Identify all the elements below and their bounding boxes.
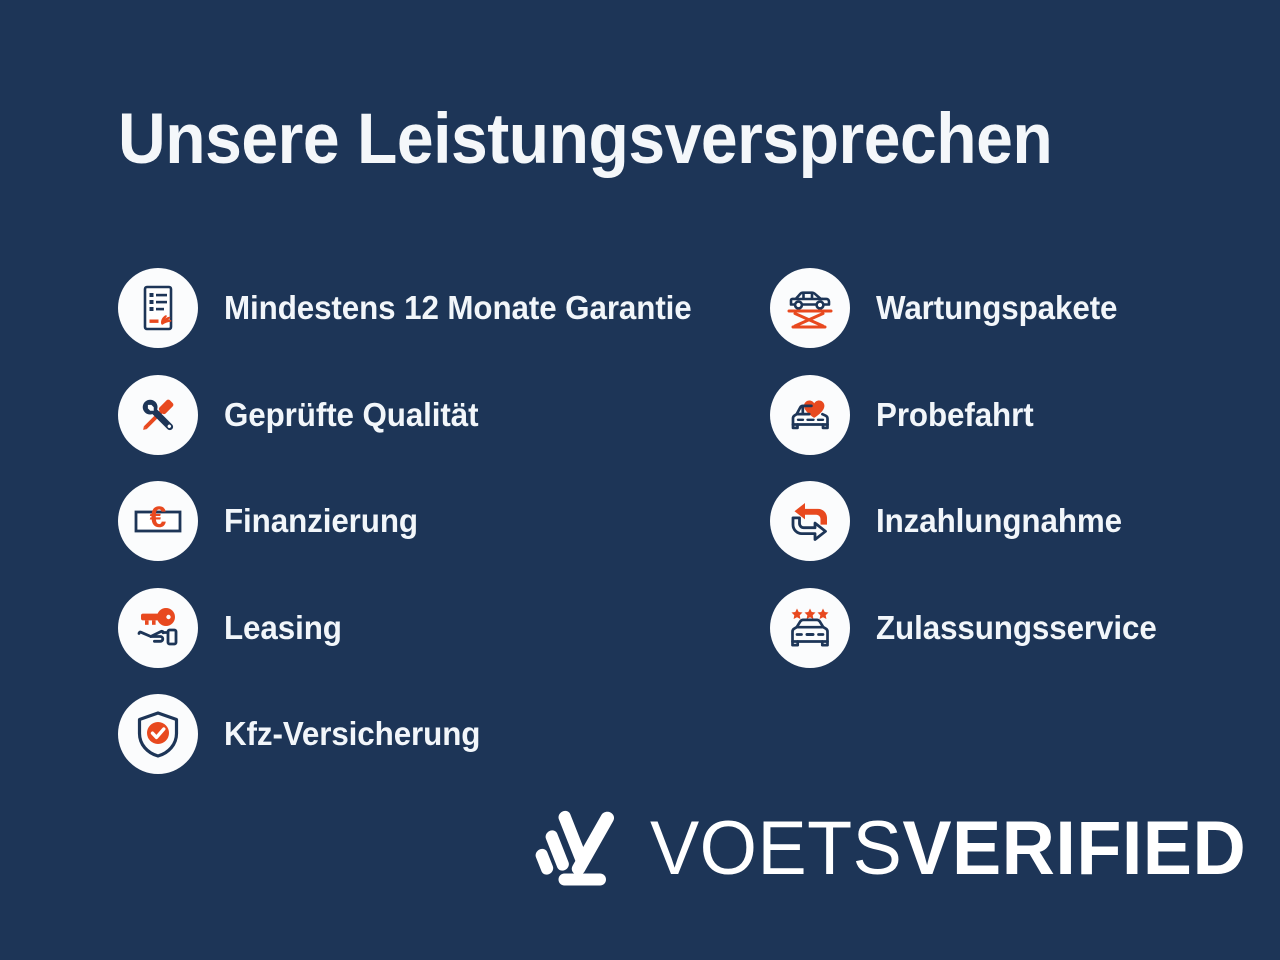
car-heart-icon (770, 375, 850, 455)
certificate-document-icon (118, 268, 198, 348)
car-on-lift-icon (770, 268, 850, 348)
feature-label: Zulassungsservice (876, 609, 1157, 647)
svg-text:€: € (150, 501, 167, 534)
feature-item-finanzierung[interactable]: € Finanzierung (118, 468, 758, 575)
car-three-stars-icon (770, 588, 850, 668)
feature-column-left: Mindestens 12 Monate Garantie (118, 255, 758, 788)
feature-label: Inzahlungnahme (876, 502, 1122, 540)
euro-banknote-icon: € (118, 481, 198, 561)
logo-wordmark: VOETSVERIFIED (650, 811, 1246, 887)
feature-item-versicherung[interactable]: Kfz-Versicherung (118, 681, 758, 788)
voets-check-mark-icon (534, 803, 626, 895)
feature-label: Finanzierung (224, 502, 418, 540)
voets-verified-logo: VOETSVERIFIED (534, 798, 1265, 900)
feature-label: Leasing (224, 609, 342, 647)
wrench-screwdriver-icon (118, 375, 198, 455)
feature-label: Kfz-Versicherung (224, 715, 480, 753)
feature-label: Wartungspakete (876, 289, 1117, 327)
feature-item-zulassungsservice[interactable]: Zulassungsservice (770, 575, 1270, 682)
feature-label: Mindestens 12 Monate Garantie (224, 289, 692, 327)
feature-item-qualitaet[interactable]: Geprüfte Qualität (118, 362, 758, 469)
feature-label: Probefahrt (876, 396, 1034, 434)
page-title: Unsere Leistungsversprechen (118, 104, 1104, 175)
feature-label: Geprüfte Qualität (224, 396, 478, 434)
logo-text-verified: VERIFIED (902, 806, 1246, 891)
feature-item-leasing[interactable]: Leasing (118, 575, 758, 682)
feature-item-garantie[interactable]: Mindestens 12 Monate Garantie (118, 255, 758, 362)
shield-check-icon (118, 694, 198, 774)
feature-item-inzahlungnahme[interactable]: Inzahlungnahme (770, 468, 1270, 575)
exchange-arrows-icon (770, 481, 850, 561)
key-in-hand-icon (118, 588, 198, 668)
promo-banner: Unsere Leistungsversprechen (0, 0, 1280, 960)
feature-item-wartungspakete[interactable]: Wartungspakete (770, 255, 1270, 362)
feature-column-right: Wartungspakete (770, 255, 1270, 681)
logo-text-voets: VOETS (650, 806, 902, 891)
feature-item-probefahrt[interactable]: Probefahrt (770, 362, 1270, 469)
